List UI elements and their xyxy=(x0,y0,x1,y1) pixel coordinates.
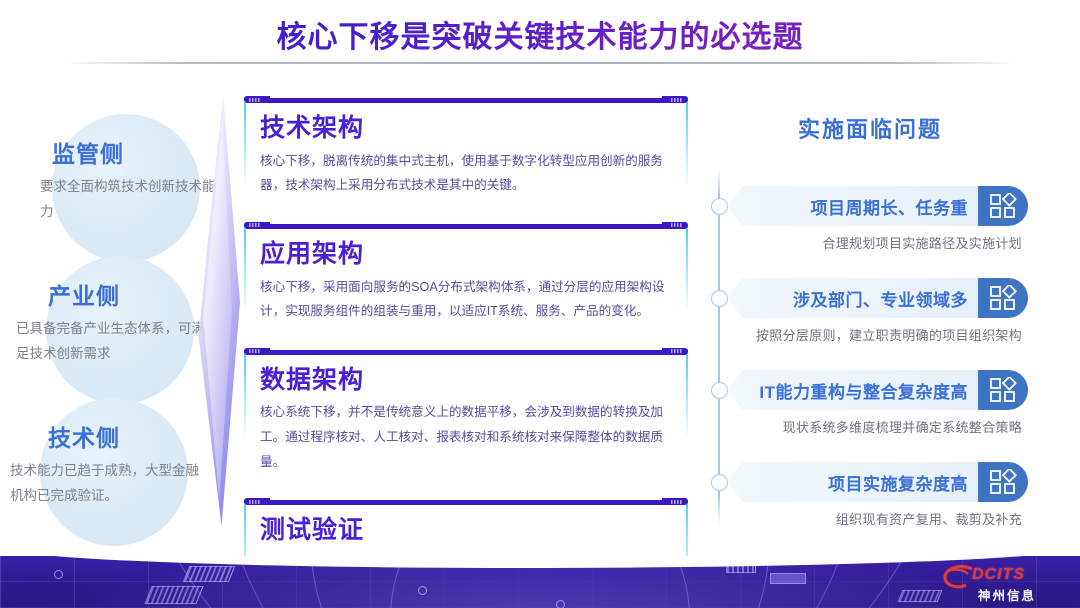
card-heading: 测试验证 xyxy=(260,516,686,545)
problem-pill[interactable]: 涉及部门、专业领域多 xyxy=(728,278,1028,318)
card-rail-right xyxy=(686,228,688,314)
grid-diamond-icon xyxy=(978,462,1028,502)
problem-item[interactable]: 项目周期长、任务重 合理规划项目实施路径及实施计划 xyxy=(728,186,1028,252)
card-top-bar xyxy=(262,98,670,103)
problem-label: 项目周期长、任务重 xyxy=(811,194,979,219)
card-top-bar xyxy=(262,500,670,505)
logo-chinese-name: 神州信息 xyxy=(978,585,1036,604)
problem-label: 涉及部门、专业领域多 xyxy=(793,286,978,311)
right-panel-title: 实施面临问题 xyxy=(700,112,1040,144)
problem-item[interactable]: 涉及部门、专业领域多 按照分层原则，建立职责明确的项目组织架构 xyxy=(728,278,1028,344)
architecture-card[interactable]: 应用架构 核心下移，采用面向服务的SOA分布式架构体系，通过分层的应用架构设计，… xyxy=(238,222,694,334)
footer-node xyxy=(54,570,63,579)
problem-subtext: 组织现有资产复用、裁剪及补充 xyxy=(728,509,1028,528)
sidebar-item-regulatory[interactable]: 监管侧 要求全面构筑技术创新技术能力 xyxy=(6,140,216,225)
footer-node xyxy=(556,600,565,608)
timeline-dot xyxy=(711,474,728,491)
sidebar-item-title: 产业侧 xyxy=(2,282,212,311)
slide-header: 核心下移是突破关键技术能力的必选题 xyxy=(0,0,1080,70)
footer-chip xyxy=(183,566,235,582)
architecture-card[interactable]: 技术架构 核心下移，脱离传统的集中式主机，使用基于数字化转型应用创新的服务器，技… xyxy=(238,96,694,208)
problem-pill[interactable]: IT能力重构与整合复杂度高 xyxy=(728,370,1028,410)
card-corner-dots-right xyxy=(671,223,683,227)
grid-diamond-icon xyxy=(978,370,1028,410)
drivers-sidebar: 监管侧 要求全面构筑技术创新技术能力 产业侧 已具备完备产业生态体系，可满足技术… xyxy=(0,86,218,536)
problem-subtext: 合理规划项目实施路径及实施计划 xyxy=(728,233,1028,252)
sidebar-item-desc: 要求全面构筑技术创新技术能力 xyxy=(6,175,216,225)
sidebar-item-technology[interactable]: 技术侧 技术能力已趋于成熟，大型金融机构已完成验证。 xyxy=(0,424,210,509)
card-body-text: 核心下移，脱离传统的集中式主机，使用基于数字化转型应用创新的服务器，技术架构上采… xyxy=(260,149,684,198)
page-title: 核心下移是突破关键技术能力的必选题 xyxy=(0,12,1080,56)
card-corner-dots-left xyxy=(249,349,261,353)
footer-chip xyxy=(144,586,203,604)
card-corner-dots-left xyxy=(249,98,261,102)
grid-diamond-icon xyxy=(978,278,1028,318)
problem-label: IT能力重构与整合复杂度高 xyxy=(759,378,978,403)
timeline-line xyxy=(718,168,720,524)
title-divider xyxy=(62,62,1018,64)
logo-swoosh-icon xyxy=(942,565,976,591)
problem-subtext: 现状系统多维度梳理并确定系统整合策略 xyxy=(728,417,1028,436)
footer-chip xyxy=(770,573,806,584)
problem-pill[interactable]: 项目周期长、任务重 xyxy=(728,186,1028,226)
problem-pill[interactable]: 项目实施复杂度高 xyxy=(728,462,1028,502)
footer-chip xyxy=(898,590,943,602)
slide-footer: DCITS 神州信息 xyxy=(0,556,1080,608)
sidebar-item-title: 技术侧 xyxy=(0,424,210,453)
architecture-card[interactable]: 数据架构 核心系统下移，并不是传统意义上的数据平移，会涉及到数据的转换及加工。通… xyxy=(238,348,694,484)
timeline-dot xyxy=(711,382,728,399)
card-rail-right xyxy=(686,354,688,440)
grid-diamond-icon xyxy=(978,186,1028,226)
card-corner-dots-left xyxy=(249,500,261,504)
timeline-dot xyxy=(711,198,728,215)
card-top-border xyxy=(244,222,688,229)
card-heading: 数据架构 xyxy=(260,366,686,395)
sidebar-item-industry[interactable]: 产业侧 已具备完备产业生态体系，可满足技术创新需求 xyxy=(2,282,212,367)
footer-node xyxy=(418,586,427,595)
sidebar-item-desc: 已具备完备产业生态体系，可满足技术创新需求 xyxy=(2,317,212,367)
card-corner-dots-right xyxy=(671,500,683,504)
timeline-dot xyxy=(711,290,728,307)
card-top-border xyxy=(244,96,688,103)
card-top-bar xyxy=(262,350,670,355)
problem-item[interactable]: 项目实施复杂度高 组织现有资产复用、裁剪及补充 xyxy=(728,462,1028,528)
card-rail-left xyxy=(244,102,246,188)
card-heading: 技术架构 xyxy=(260,114,686,143)
logo-wordmark: DCITS xyxy=(972,566,1025,584)
card-rail-left xyxy=(244,228,246,314)
problem-item[interactable]: IT能力重构与整合复杂度高 现状系统多维度梳理并确定系统整合策略 xyxy=(728,370,1028,436)
card-corner-dots-right xyxy=(671,349,683,353)
architecture-card-list: 技术架构 核心下移，脱离传统的集中式主机，使用基于数字化转型应用创新的服务器，技… xyxy=(238,96,694,608)
card-body-text: 核心系统下移，并不是传统意义上的数据平移，会涉及到数据的转换及加工。通过程序核对… xyxy=(260,400,684,474)
card-top-border xyxy=(244,498,688,505)
card-rail-left xyxy=(244,354,246,440)
card-heading: 应用架构 xyxy=(260,240,686,269)
card-corner-dots-right xyxy=(671,98,683,102)
card-top-bar xyxy=(262,224,670,229)
problem-subtext: 按照分层原则，建立职责明确的项目组织架构 xyxy=(728,325,1028,344)
card-rail-right xyxy=(686,102,688,188)
implementation-problems-panel: 实施面临问题 项目周期长、任务重 合理规划项目实施路径及实施计划 涉及部门、专业… xyxy=(700,96,1040,536)
card-top-border xyxy=(244,348,688,355)
sidebar-item-title: 监管侧 xyxy=(6,140,216,169)
problem-label: 项目实施复杂度高 xyxy=(828,470,978,495)
card-corner-dots-left xyxy=(249,223,261,227)
card-body-text: 核心下移，采用面向服务的SOA分布式架构体系，通过分层的应用架构设计，实现服务组… xyxy=(260,275,684,324)
company-logo: DCITS 神州信息 xyxy=(942,563,1062,603)
sidebar-item-desc: 技术能力已趋于成熟，大型金融机构已完成验证。 xyxy=(0,459,210,509)
